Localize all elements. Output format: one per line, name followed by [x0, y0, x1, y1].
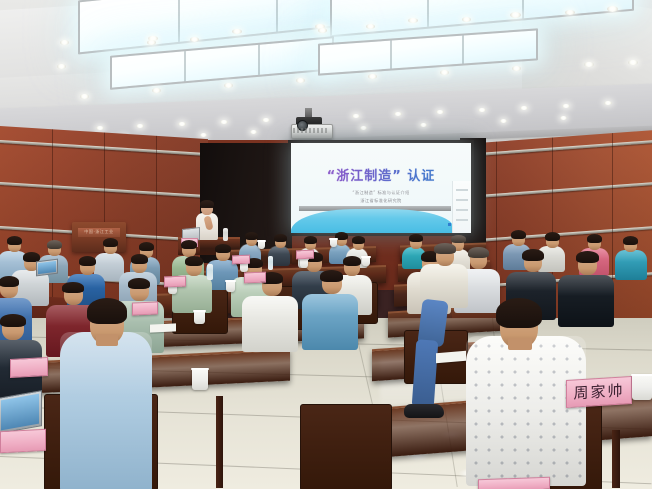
projection-screen: “浙江制造” 认证 “浙江制造” 标准与认证介绍 浙江省标准化研究院 [291, 143, 471, 233]
downlight-icon [360, 126, 367, 130]
podium-sign-text: 中国·浙江工业 [78, 229, 120, 235]
downlight-icon [190, 37, 199, 42]
desk-name-card [164, 276, 186, 288]
slide-side-panel [452, 181, 471, 233]
downlight-icon [318, 28, 327, 33]
desk-name-card [132, 301, 158, 315]
downlight-icon [250, 130, 257, 134]
downlight-icon [394, 112, 402, 116]
podium-sign: 中国·浙江工业 [78, 228, 120, 237]
downlight-icon [224, 83, 233, 88]
downlight-icon [604, 101, 612, 105]
paper-cup [258, 240, 265, 249]
water-bottle [207, 264, 213, 280]
desk-leg [216, 396, 223, 488]
downlight-icon [96, 126, 104, 130]
downlight-icon [478, 108, 486, 112]
desk-leg [612, 430, 620, 488]
shoe [404, 404, 444, 418]
podium [72, 222, 126, 252]
downlight-icon [136, 124, 144, 128]
downlight-icon [584, 62, 594, 67]
desk-name-card [232, 255, 250, 265]
paper-cup [330, 238, 337, 247]
slide-wave-graphic [291, 209, 453, 233]
downlight-icon [500, 119, 507, 123]
downlight-icon [178, 122, 186, 126]
downlight-icon [352, 114, 360, 118]
presenter-bottle [223, 228, 228, 241]
downlight-icon [296, 78, 305, 83]
downlight-icon [436, 110, 444, 114]
downlight-icon [147, 40, 156, 45]
downlight-icon [366, 24, 375, 29]
downlight-icon [60, 40, 69, 45]
downlight-icon [440, 70, 449, 75]
downlight-icon [565, 10, 575, 15]
water-bottle [268, 256, 273, 270]
downlight-icon [520, 106, 528, 110]
desk-name-card [296, 250, 314, 260]
downlight-icon [462, 17, 471, 22]
downlight-icon [562, 104, 570, 108]
slide-title: “浙江制造” 认证 [291, 165, 471, 184]
slide-cursor [448, 223, 451, 226]
downlight-icon [262, 118, 270, 122]
downlight-icon [368, 74, 377, 79]
slide-subtitle-line1: “浙江制造” 标准与认证介绍 [291, 190, 471, 196]
downlight-icon [560, 116, 567, 120]
laptop [36, 259, 58, 277]
downlight-icon [408, 18, 418, 23]
downlight-icon [628, 60, 638, 65]
slide-subtitle-line2: 浙江省标准化研究院 [291, 198, 471, 204]
chair [300, 404, 392, 489]
downlight-icon [200, 133, 207, 137]
projector-label [293, 128, 329, 133]
desk-name-card [244, 272, 266, 284]
downlight-icon [607, 6, 618, 12]
downlight-icon [220, 120, 228, 124]
leg-lower [412, 339, 439, 408]
downlight-icon [80, 94, 89, 99]
presenter-hair [200, 200, 214, 208]
downlight-icon [152, 88, 161, 93]
paper-cup [362, 256, 370, 266]
paper-cup [192, 368, 208, 390]
downlight-icon [420, 123, 427, 127]
downlight-icon [510, 12, 521, 18]
desk-name-card [0, 429, 46, 453]
downlight-icon [232, 29, 242, 34]
desk-name-card [10, 357, 48, 378]
paper-cup [300, 258, 308, 268]
desk-name-card-foreground: 周家帅 [566, 376, 632, 408]
desk-name-card [478, 477, 550, 489]
paper-sheet [150, 323, 176, 332]
paper-cup [194, 310, 205, 324]
conference-room-photo: “浙江制造” 认证 “浙江制造” 标准与认证介绍 浙江省标准化研究院 中国·浙江… [0, 0, 652, 489]
downlight-icon [57, 64, 66, 69]
downlight-icon [512, 66, 521, 71]
paper-cup-foreground [632, 374, 652, 400]
paper-cup [226, 280, 235, 292]
